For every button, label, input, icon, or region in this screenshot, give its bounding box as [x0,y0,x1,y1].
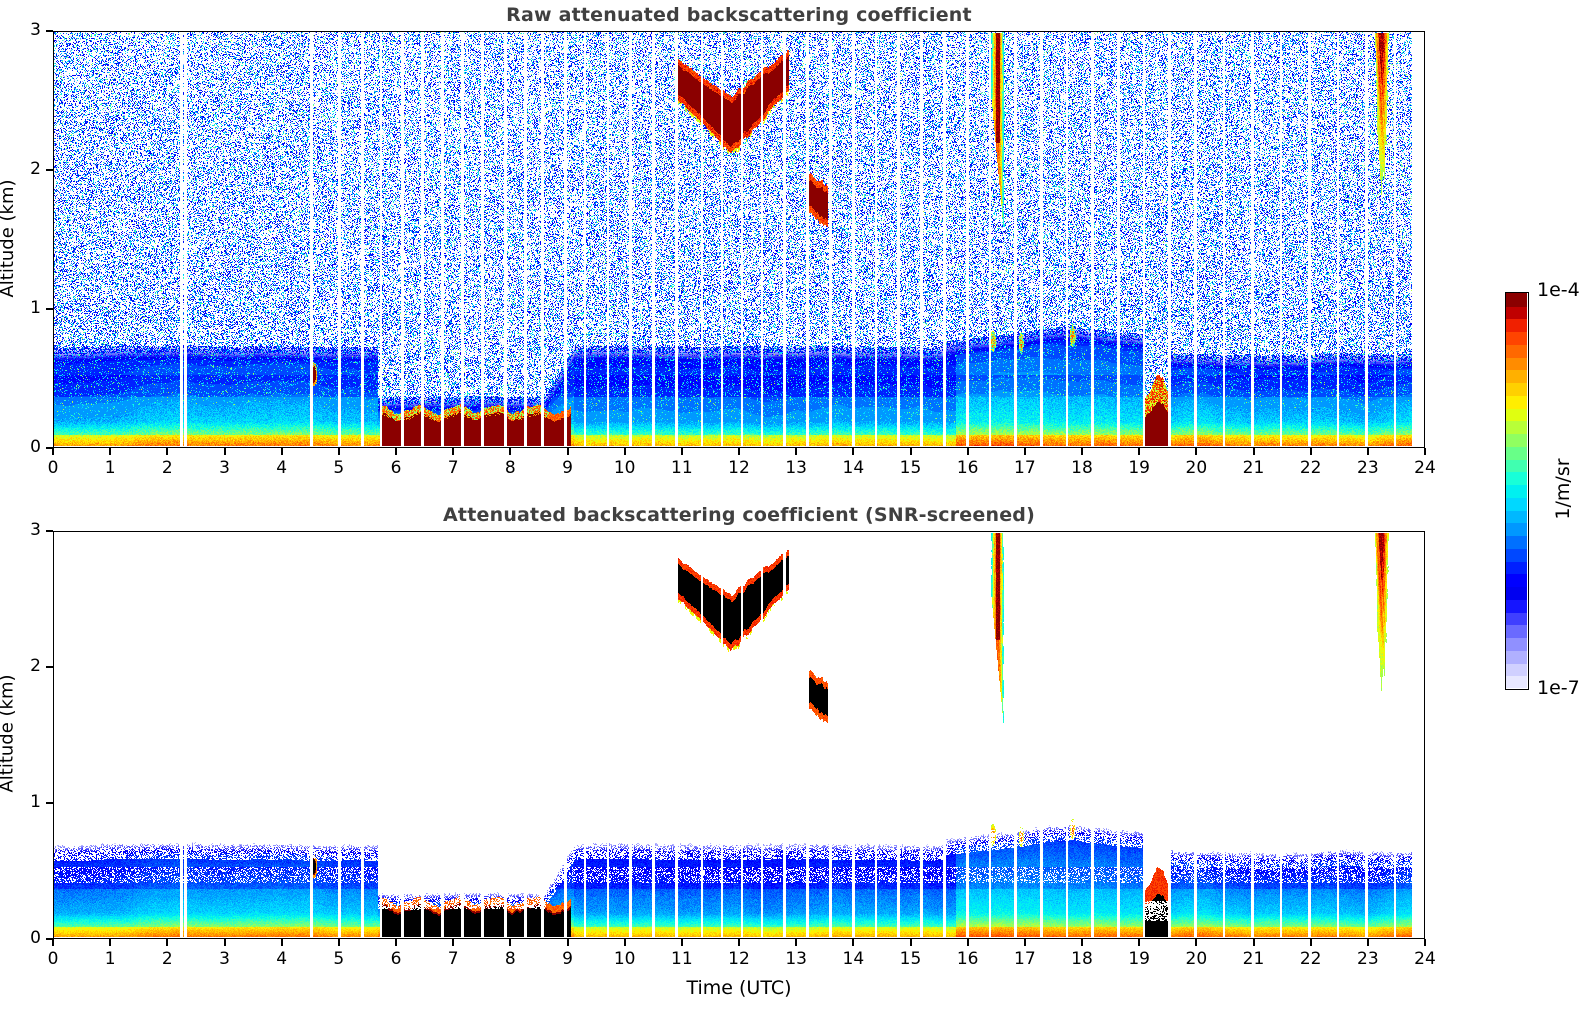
x-tick-label: 1 [88,949,132,969]
x-tick-mark [338,448,340,455]
x-tick-mark [967,939,969,946]
x-tick-mark [795,448,797,455]
x-tick-label: 3 [203,949,247,969]
x-tick-mark [1253,939,1255,946]
x-tick-label: 19 [1117,458,1161,478]
x-tick-mark [795,939,797,946]
x-tick-label: 24 [1403,949,1447,969]
panel-screened-x-axis-label: Time (UTC) [53,977,1425,999]
panel-raw-y-axis-label: Altitude (km) [0,30,18,447]
x-tick-mark [281,448,283,455]
x-tick-label: 19 [1117,949,1161,969]
y-tick-label: 3 [9,520,41,540]
x-tick-mark [1081,448,1083,455]
x-tick-label: 18 [1060,949,1104,969]
x-tick-label: 6 [374,458,418,478]
x-tick-mark [624,939,626,946]
x-tick-mark [567,939,569,946]
x-tick-label: 13 [774,949,818,969]
x-tick-label: 16 [946,949,990,969]
x-tick-label: 16 [946,458,990,478]
y-tick-label: 2 [9,656,41,676]
x-tick-mark [738,448,740,455]
x-tick-label: 3 [203,458,247,478]
x-tick-mark [509,448,511,455]
x-tick-label: 11 [660,458,704,478]
panel-raw-title: Raw attenuated backscattering coefficien… [53,4,1425,26]
x-tick-mark [338,939,340,946]
x-tick-mark [1195,448,1197,455]
x-tick-mark [452,448,454,455]
x-tick-mark [109,939,111,946]
x-tick-mark [166,448,168,455]
x-tick-mark [1024,448,1026,455]
x-tick-label: 23 [1346,458,1390,478]
x-tick-label: 17 [1003,949,1047,969]
x-tick-mark [452,939,454,946]
panel-screened-title: Attenuated backscattering coefficient (S… [53,504,1425,526]
x-tick-label: 9 [546,949,590,969]
y-tick-mark [46,802,53,804]
x-tick-label: 7 [431,949,475,969]
x-tick-label: 18 [1060,458,1104,478]
x-tick-mark [52,939,54,946]
y-tick-label: 1 [9,792,41,812]
x-tick-mark [1367,939,1369,946]
x-tick-mark [224,448,226,455]
x-tick-mark [681,448,683,455]
x-tick-label: 4 [260,949,304,969]
colorbar [1505,292,1529,690]
y-tick-mark [46,447,53,449]
x-tick-label: 9 [546,458,590,478]
y-tick-mark [46,308,53,310]
x-tick-label: 20 [1174,949,1218,969]
x-tick-label: 0 [31,458,75,478]
y-tick-mark [46,530,53,532]
y-tick-label: 0 [9,437,41,457]
x-tick-label: 2 [145,458,189,478]
panel-screened-y-axis-label: Altitude (km) [0,530,18,938]
x-tick-label: 22 [1289,949,1333,969]
x-tick-label: 22 [1289,458,1333,478]
x-tick-mark [567,448,569,455]
x-tick-mark [1310,448,1312,455]
x-tick-label: 10 [603,949,647,969]
x-tick-mark [166,939,168,946]
x-tick-label: 7 [431,458,475,478]
y-tick-label: 2 [9,159,41,179]
panel-screened-heatmap [54,532,1423,937]
y-tick-mark [46,938,53,940]
panel-raw-axes-frame [53,31,1425,448]
x-tick-mark [967,448,969,455]
x-tick-label: 14 [831,949,875,969]
x-tick-label: 12 [717,949,761,969]
x-tick-label: 8 [488,949,532,969]
y-tick-label: 1 [9,298,41,318]
x-tick-mark [1367,448,1369,455]
x-tick-mark [738,939,740,946]
x-tick-label: 2 [145,949,189,969]
x-tick-mark [395,939,397,946]
x-tick-label: 5 [317,458,361,478]
x-tick-label: 0 [31,949,75,969]
x-tick-label: 15 [889,949,933,969]
colorbar-gradient [1506,293,1527,688]
figure-canvas-root: Raw attenuated backscattering coefficien… [0,0,1595,1020]
x-tick-mark [1424,939,1426,946]
x-tick-mark [1081,939,1083,946]
y-tick-mark [46,169,53,171]
x-tick-mark [1424,448,1426,455]
x-tick-mark [1138,448,1140,455]
x-tick-mark [1024,939,1026,946]
x-tick-mark [910,448,912,455]
x-tick-mark [852,448,854,455]
y-tick-mark [46,666,53,668]
x-tick-label: 21 [1232,458,1276,478]
panel-screened-axes-frame [53,531,1425,939]
x-tick-label: 12 [717,458,761,478]
x-tick-label: 23 [1346,949,1390,969]
x-tick-mark [395,448,397,455]
x-tick-mark [509,939,511,946]
x-tick-mark [910,939,912,946]
x-tick-label: 8 [488,458,532,478]
x-tick-mark [1310,939,1312,946]
x-tick-label: 13 [774,458,818,478]
x-tick-label: 6 [374,949,418,969]
y-tick-mark [46,30,53,32]
x-tick-mark [681,939,683,946]
x-tick-label: 10 [603,458,647,478]
x-tick-label: 21 [1232,949,1276,969]
x-tick-mark [1253,448,1255,455]
x-tick-mark [281,939,283,946]
x-tick-label: 24 [1403,458,1447,478]
x-tick-mark [852,939,854,946]
x-tick-label: 1 [88,458,132,478]
x-tick-label: 11 [660,949,704,969]
x-tick-mark [224,939,226,946]
y-tick-label: 3 [9,20,41,40]
x-tick-label: 14 [831,458,875,478]
colorbar-unit-label: 1/m/sr [1552,290,1574,688]
x-tick-mark [624,448,626,455]
x-tick-label: 5 [317,949,361,969]
x-tick-label: 15 [889,458,933,478]
x-tick-label: 4 [260,458,304,478]
y-tick-label: 0 [9,928,41,948]
x-tick-mark [1195,939,1197,946]
x-tick-mark [109,448,111,455]
x-tick-mark [52,448,54,455]
x-tick-mark [1138,939,1140,946]
panel-raw-heatmap [54,32,1423,446]
x-tick-label: 17 [1003,458,1047,478]
x-tick-label: 20 [1174,458,1218,478]
